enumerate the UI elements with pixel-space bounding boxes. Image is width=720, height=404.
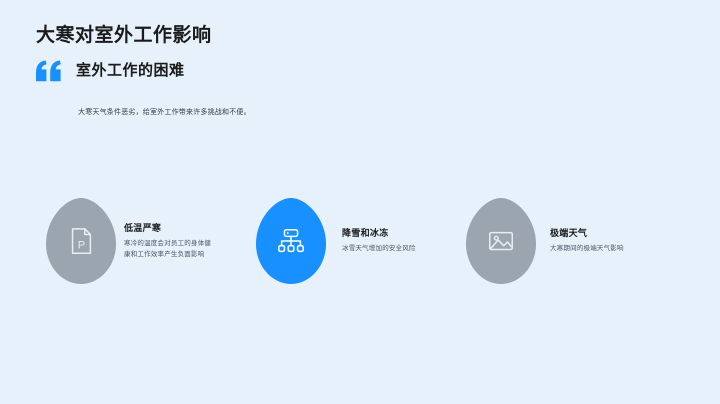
slide-canvas: 大寒对室外工作影响 室外工作的困难 大寒天气条件恶劣，给室外工作带来许多挑战和不… (0, 0, 720, 404)
sitemap-hierarchy-icon (276, 226, 306, 256)
card-description: 寒冷的温度会对员工的身体健康和工作效率产生负面影响 (124, 239, 212, 260)
card-extreme-weather[interactable]: 极端天气 大寒期间的极端天气影响 (464, 196, 674, 286)
svg-text:P: P (78, 240, 86, 252)
subtitle-row: 室外工作的困难 (36, 58, 676, 84)
card-description: 大寒期间的极端天气影响 (550, 244, 638, 255)
slide-header: 大寒对室外工作影响 室外工作的困难 (36, 24, 676, 84)
card-description: 冰雪天气增加的安全风险 (342, 244, 430, 255)
lead-paragraph: 大寒天气条件恶劣，给室外工作带来许多挑战和不便。 (78, 107, 251, 119)
card-icon-blob: P (44, 196, 118, 286)
card-text-block: 低温严寒 寒冷的温度会对员工的身体健康和工作效率产生负面影响 (124, 222, 242, 260)
card-title: 降雪和冰冻 (342, 227, 460, 240)
card-text-block: 降雪和冰冻 冰雪天气增加的安全风险 (342, 227, 460, 255)
card-icon-blob (254, 196, 328, 286)
page-title: 大寒对室外工作影响 (36, 24, 676, 48)
section-subtitle: 室外工作的困难 (76, 61, 185, 81)
card-snow-and-ice[interactable]: 降雪和冰冻 冰雪天气增加的安全风险 (254, 196, 464, 286)
card-text-block: 极端天气 大寒期间的极端天气影响 (550, 227, 668, 255)
quote-mark-icon (36, 60, 62, 82)
image-picture-icon (486, 226, 516, 256)
card-title: 极端天气 (550, 227, 668, 240)
card-title: 低温严寒 (124, 222, 242, 235)
document-file-icon: P (66, 226, 96, 256)
card-icon-blob (464, 196, 538, 286)
cards-row: P 低温严寒 寒冷的温度会对员工的身体健康和工作效率产生负面影响 (44, 196, 676, 286)
card-low-temperature[interactable]: P 低温严寒 寒冷的温度会对员工的身体健康和工作效率产生负面影响 (44, 196, 254, 286)
